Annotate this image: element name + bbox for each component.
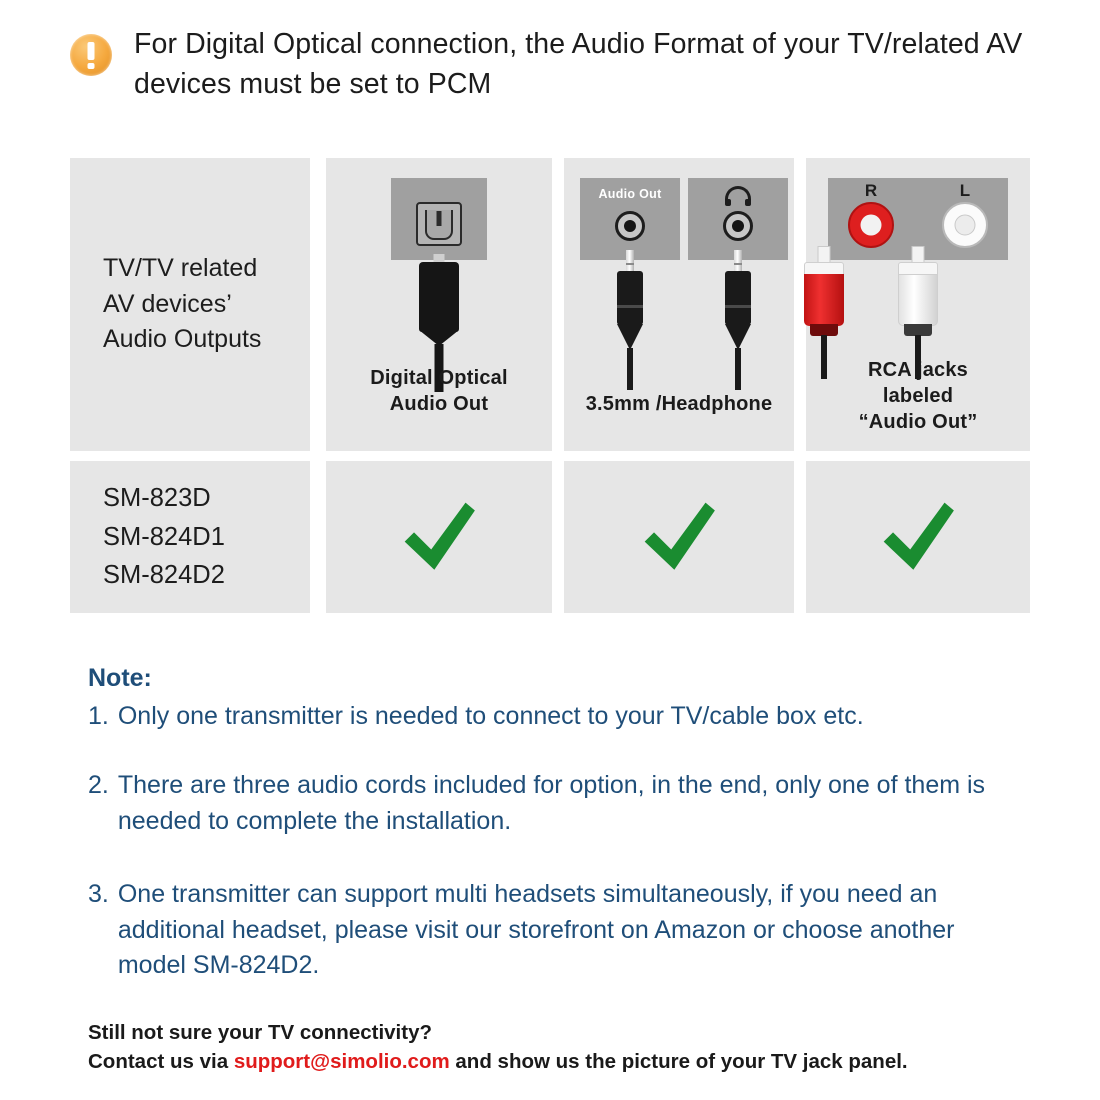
note-item-1: 1. Only one transmitter is needed to con… (88, 699, 1028, 735)
plug-body (898, 274, 938, 326)
model-sm-823d: SM-823D (103, 484, 211, 512)
toslink-pin (437, 211, 442, 226)
checkmark-icon (400, 498, 478, 576)
rca-right-label: R (851, 181, 891, 201)
optical-port-panel (391, 178, 487, 260)
toslink-port-icon (416, 202, 462, 246)
jack-hole (624, 220, 636, 232)
note-text: There are three audio cords included for… (118, 768, 1028, 839)
rca-left-jack-icon (942, 202, 988, 248)
jack-hole (732, 220, 744, 232)
row-header-line3: Audio Outputs (103, 325, 261, 353)
plug-body (804, 274, 844, 326)
row-header-models: SM-823D SM-824D1 SM-824D2 (70, 461, 310, 613)
warning-banner: For Digital Optical connection, the Audi… (70, 22, 1030, 122)
caption-line-1: RCA jacks (868, 359, 968, 381)
caption-line-1: Digital Optical (370, 367, 507, 389)
plug-barrel (617, 271, 643, 325)
headphone-jack-icon (723, 211, 753, 241)
support-cell-3-5mm (564, 461, 794, 613)
rca-caption: RCA jacks labeled “Audio Out” (806, 357, 1030, 435)
notes-title: Note: (88, 662, 1028, 695)
note-number: 1. (88, 699, 109, 735)
checkmark-icon (640, 498, 718, 576)
plug-tip (626, 250, 634, 272)
note-text: Only one transmitter is needed to connec… (118, 699, 1028, 735)
digital-optical-caption: Digital Optical Audio Out (326, 365, 552, 417)
model-sm-824d1: SM-824D1 (103, 523, 225, 551)
instruction-sheet: For Digital Optical connection, the Audi… (0, 0, 1100, 1100)
caption-line-3: “Audio Out” (859, 411, 978, 433)
row-header-audio-outputs: TV/TV related AV devices’ Audio Outputs (70, 158, 310, 451)
column-digital-optical: Digital Optical Audio Out (326, 158, 552, 451)
exclamation-dot (88, 63, 95, 69)
note-number: 3. (88, 877, 109, 984)
notes-section: Note: 1. Only one transmitter is needed … (88, 662, 1028, 984)
warning-exclamation-icon (70, 34, 112, 76)
footer-contact-suffix: and show us the picture of your TV jack … (450, 1050, 908, 1073)
exclamation-bar (88, 42, 95, 60)
headphone-jack-panel (688, 178, 788, 260)
plug-cable (735, 348, 741, 390)
plug-cone (617, 324, 643, 350)
support-footer: Still not sure your TV connectivity? Con… (88, 1018, 1038, 1076)
note-number: 2. (88, 768, 109, 839)
note-text: One transmitter can support multi headse… (118, 877, 1028, 984)
audio-out-jack-icon (615, 211, 645, 241)
optical-plug-body (419, 262, 459, 332)
column-rca: R L (806, 158, 1030, 451)
support-email-link[interactable]: support@simolio.com (234, 1050, 450, 1073)
caption-line-2: Audio Out (390, 393, 488, 415)
headphone-illustration: Audio Out (564, 174, 794, 389)
headphone-caption: 3.5mm /Headphone (564, 391, 794, 417)
model-list: SM-823D SM-824D1 SM-824D2 (103, 479, 225, 595)
plug-tip (734, 250, 742, 272)
footer-contact-line: Contact us via support@simolio.com and s… (88, 1047, 1038, 1076)
rca-right-jack-icon (848, 202, 894, 248)
note-item-2: 2. There are three audio cords included … (88, 768, 1028, 839)
column-3-5mm-headphone: Audio Out (564, 158, 794, 451)
compatibility-table: TV/TV related AV devices’ Audio Outputs (70, 158, 1030, 613)
digital-optical-illustration (326, 174, 552, 389)
note-item-3: 3. One transmitter can support multi hea… (88, 877, 1028, 984)
support-cell-rca (806, 461, 1030, 613)
model-sm-824d2: SM-824D2 (103, 561, 225, 589)
table-row-models: SM-823D SM-824D1 SM-824D2 (70, 461, 1030, 613)
headphone-icon (725, 186, 751, 201)
row-header-line1: TV/TV related (103, 254, 257, 282)
audio-out-jack-panel: Audio Out (580, 178, 680, 260)
footer-contact-prefix: Contact us via (88, 1050, 234, 1073)
plug-cable (627, 348, 633, 390)
caption-line-2: labeled (883, 385, 953, 407)
row-header-line2: AV devices’ (103, 290, 232, 318)
plug-cone (725, 324, 751, 350)
rca-left-label: L (945, 181, 985, 201)
plug-barrel (725, 271, 751, 325)
rca-jack-panel: R L (828, 178, 1008, 260)
checkmark-icon (879, 498, 957, 576)
support-cell-digital-optical (326, 461, 552, 613)
row-header-label: TV/TV related AV devices’ Audio Outputs (103, 251, 261, 358)
warning-banner-text: For Digital Optical connection, the Audi… (134, 22, 1030, 105)
audio-out-panel-label: Audio Out (580, 187, 680, 201)
table-row-outputs: TV/TV related AV devices’ Audio Outputs (70, 158, 1030, 451)
footer-question: Still not sure your TV connectivity? (88, 1018, 1038, 1047)
